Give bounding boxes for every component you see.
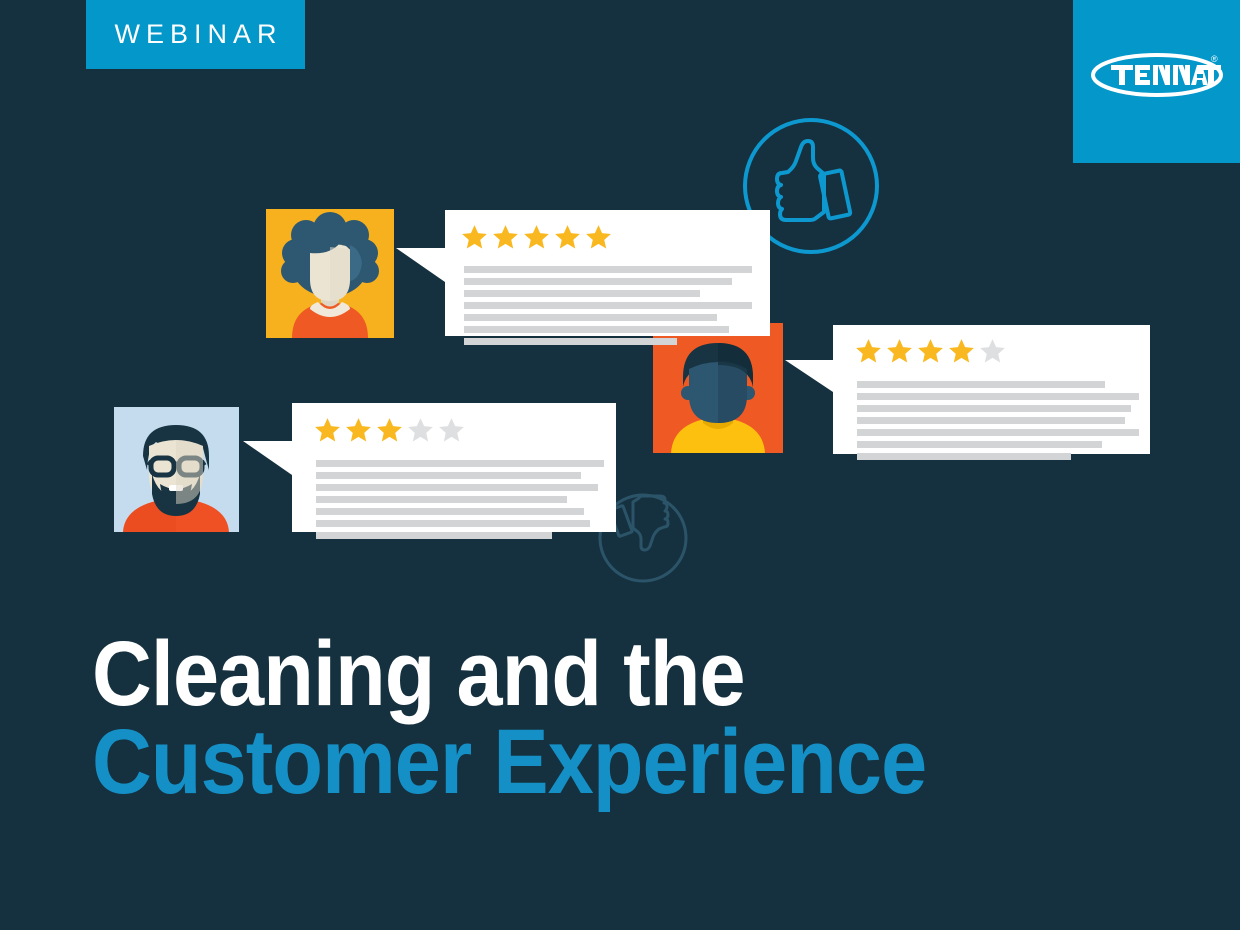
review-text-line [464,266,752,273]
review-text-lines [857,381,1139,465]
star-icon-empty [438,417,465,443]
review-text-line [857,417,1125,424]
review-text-line [464,290,700,297]
star-icon [585,224,612,250]
star-icon [376,417,403,443]
review-text-line [857,441,1102,448]
title-line-secondary: Customer Experience [92,718,992,806]
webinar-badge: WEBINAR [86,0,305,69]
review-text-line [857,381,1105,388]
review-text-line [464,338,677,345]
speech-bubble-tail [785,360,833,392]
star-icon [554,224,581,250]
review-card [445,210,770,336]
review-text-line [316,520,590,527]
review-card [833,325,1150,454]
review-text-line [857,429,1139,436]
review-text-line [316,508,584,515]
star-rating [855,338,1006,364]
review-text-lines [316,460,604,544]
star-rating [314,417,465,443]
star-icon [855,338,882,364]
review-text-line [316,472,581,479]
star-icon [948,338,975,364]
avatar-bearded-man [107,400,246,539]
review-text-line [464,326,729,333]
star-icon [345,417,372,443]
star-icon [917,338,944,364]
star-icon-empty [407,417,434,443]
review-text-line [316,496,567,503]
review-text-line [857,393,1139,400]
star-rating [461,224,612,250]
review-card [292,403,616,532]
review-text-line [464,314,717,321]
review-text-line [857,405,1131,412]
star-icon [886,338,913,364]
review-text-line [316,484,598,491]
star-icon [314,417,341,443]
star-icon-empty [979,338,1006,364]
review-text-lines [464,266,752,350]
star-icon [492,224,519,250]
webinar-badge-label: WEBINAR [108,19,282,50]
registered-trademark-symbol: ® [1211,55,1218,64]
page-title: Cleaning and the Customer Experience [92,630,1092,806]
avatar-woman [266,209,394,338]
review-text-line [464,302,752,309]
review-text-line [464,278,732,285]
speech-bubble-tail [243,441,292,475]
speech-bubble-tail [396,248,445,282]
title-line-primary: Cleaning and the [92,630,992,718]
review-text-line [316,460,604,467]
star-icon [461,224,488,250]
webinar-title-slide: WEBINAR [0,0,1240,930]
star-icon [523,224,550,250]
tennant-logo-mark [1089,52,1225,98]
tennant-logo: ® [1073,0,1240,163]
review-text-line [857,453,1071,460]
review-text-line [316,532,552,539]
